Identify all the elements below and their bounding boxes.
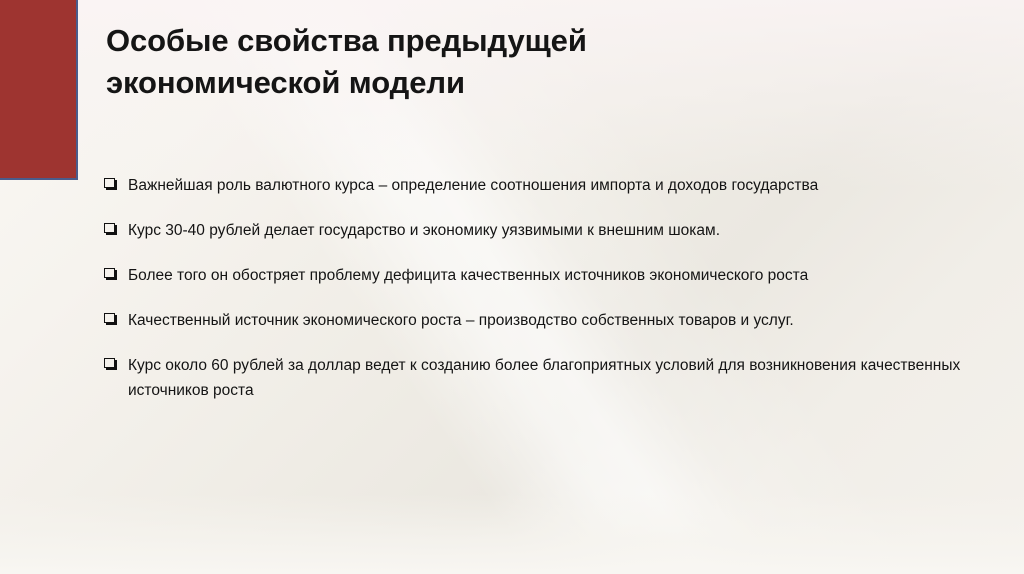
slide-title-line-2: экономической модели [106, 62, 806, 104]
slide-title-line-1: Особые свойства предыдущей [106, 20, 806, 62]
slide-canvas: Особые свойства предыдущей экономической… [0, 0, 1024, 574]
list-item-text: Курс около 60 рублей за доллар ведет к с… [128, 353, 980, 403]
list-item-text: Более того он обостряет проблему дефицит… [128, 263, 980, 288]
list-item-text: Курс 30-40 рублей делает государство и э… [128, 218, 980, 243]
list-item: Качественный источник экономического рос… [100, 308, 980, 333]
list-item-text: Важнейшая роль валютного курса – определ… [128, 173, 980, 198]
list-item: Курс около 60 рублей за доллар ведет к с… [100, 353, 980, 403]
hollow-square-bullet-icon [104, 268, 115, 278]
slide-title: Особые свойства предыдущей экономической… [106, 20, 806, 104]
hollow-square-bullet-icon [104, 313, 115, 323]
list-item: Более того он обостряет проблему дефицит… [100, 263, 980, 288]
list-item-text: Качественный источник экономического рос… [128, 308, 980, 333]
hollow-square-bullet-icon [104, 178, 115, 188]
list-item: Курс 30-40 рублей делает государство и э… [100, 218, 980, 243]
hollow-square-bullet-icon [104, 223, 115, 233]
list-item: Важнейшая роль валютного курса – определ… [100, 173, 980, 198]
bullet-list: Важнейшая роль валютного курса – определ… [100, 173, 980, 403]
hollow-square-bullet-icon [104, 358, 115, 368]
decorative-accent-block [0, 0, 78, 180]
